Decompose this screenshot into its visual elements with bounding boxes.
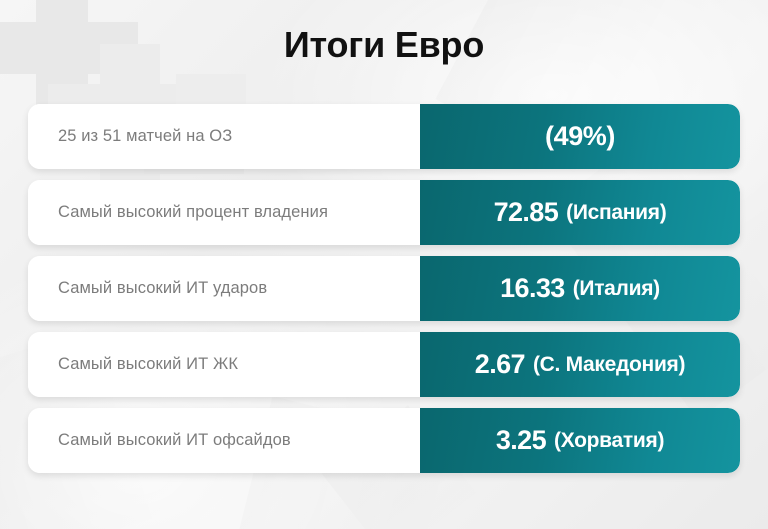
stat-value: (49%) [420, 104, 740, 169]
table-row: Самый высокий ИТ офсайдов 3.25 (Хорватия… [28, 408, 740, 473]
stat-value-team: (Хорватия) [554, 429, 664, 453]
stat-value: 3.25 (Хорватия) [420, 408, 740, 473]
infographic-canvas: Итоги Евро 25 из 51 матчей на ОЗ (49%) С… [0, 0, 768, 529]
stat-value: 72.85 (Испания) [420, 180, 740, 245]
page-title: Итоги Евро [0, 27, 768, 63]
table-row: 25 из 51 матчей на ОЗ (49%) [28, 104, 740, 169]
stat-label: Самый высокий ИТ ЖК [28, 332, 420, 397]
stats-table: 25 из 51 матчей на ОЗ (49%) Самый высоки… [28, 104, 740, 484]
stat-value-number: (49%) [545, 121, 615, 152]
stat-label: Самый высокий процент владения [28, 180, 420, 245]
stat-value-team: (Испания) [566, 201, 666, 225]
stat-label: 25 из 51 матчей на ОЗ [28, 104, 420, 169]
stat-value-number: 2.67 [475, 349, 525, 380]
stat-value-number: 3.25 [496, 425, 546, 456]
stat-value-number: 72.85 [494, 197, 559, 228]
table-row: Самый высокий ИТ ЖК 2.67 (С. Македония) [28, 332, 740, 397]
stat-value-team: (С. Македония) [533, 353, 685, 377]
table-row: Самый высокий процент владения 72.85 (Ис… [28, 180, 740, 245]
stat-value: 2.67 (С. Македония) [420, 332, 740, 397]
stat-value: 16.33 (Италия) [420, 256, 740, 321]
stat-value-team: (Италия) [573, 277, 660, 301]
stat-label: Самый высокий ИТ офсайдов [28, 408, 420, 473]
stat-value-number: 16.33 [500, 273, 565, 304]
table-row: Самый высокий ИТ ударов 16.33 (Италия) [28, 256, 740, 321]
stat-label: Самый высокий ИТ ударов [28, 256, 420, 321]
